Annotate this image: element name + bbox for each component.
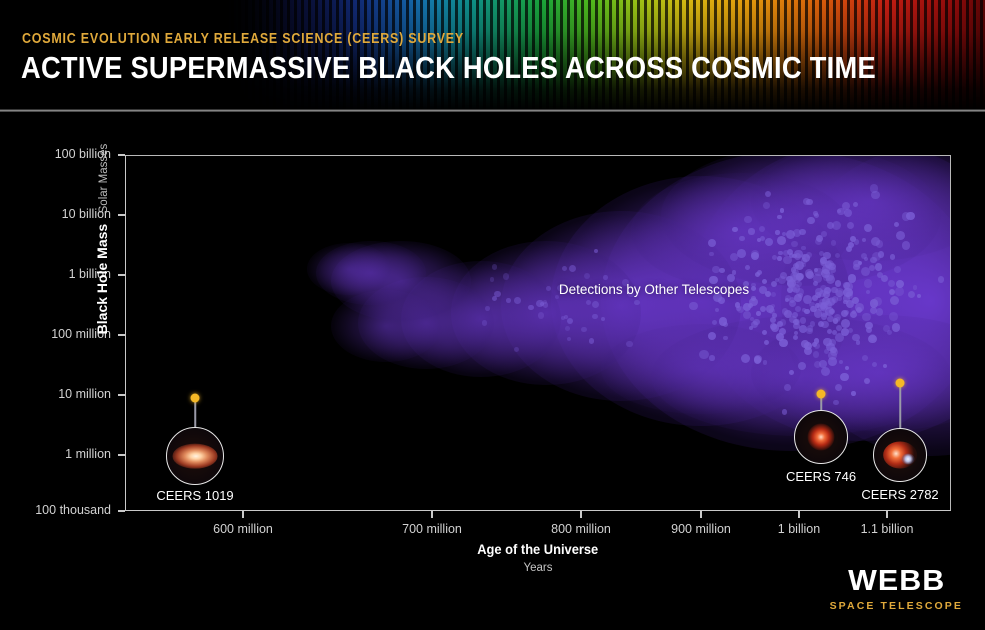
data-point-marker[interactable]	[191, 394, 200, 403]
detection-dot	[777, 236, 786, 245]
detection-dot	[917, 294, 921, 298]
webb-logo: WEBB SPACE TELESCOPE	[830, 567, 963, 612]
galaxy-thumbnail[interactable]	[873, 428, 927, 482]
detection-dot	[543, 300, 547, 304]
detection-dot	[709, 355, 714, 360]
detection-dot	[787, 249, 793, 255]
detection-dot	[795, 261, 804, 270]
detection-dot	[813, 211, 817, 215]
detection-dot	[792, 284, 800, 292]
detection-dot	[835, 384, 842, 391]
detection-dot	[828, 351, 837, 360]
detection-dot	[804, 309, 809, 314]
data-point-marker[interactable]	[817, 390, 826, 399]
detection-dot	[890, 296, 899, 305]
detection-dot	[760, 306, 766, 312]
galaxy-thumbnail[interactable]	[166, 427, 224, 485]
detection-dot	[782, 232, 786, 236]
detection-dot	[812, 295, 818, 301]
detection-dot	[753, 319, 760, 326]
detection-dot	[825, 272, 834, 281]
detection-dot	[754, 356, 761, 363]
detection-dot	[843, 300, 848, 305]
detection-dot	[790, 272, 799, 281]
detection-dot	[749, 326, 753, 330]
detection-dot	[786, 276, 793, 283]
detection-dot	[883, 325, 890, 332]
detection-dot	[856, 307, 863, 314]
detection-dot	[896, 280, 904, 288]
detection-dot	[798, 293, 803, 298]
detection-dot	[715, 308, 719, 312]
detection-dot	[823, 338, 832, 347]
detection-dot	[777, 215, 782, 220]
x-tick-label: 900 million	[671, 522, 731, 536]
detection-dot	[799, 229, 805, 235]
detection-dot	[789, 253, 794, 258]
detection-dot	[712, 266, 719, 273]
detection-dot	[836, 290, 843, 297]
detection-dot	[772, 313, 777, 318]
detection-dot	[818, 321, 824, 327]
callout-stem	[899, 383, 901, 428]
detection-dot	[803, 295, 812, 304]
detection-dot	[855, 303, 864, 312]
data-point-marker[interactable]	[896, 379, 905, 388]
detection-dot	[784, 384, 791, 391]
detection-dot	[841, 319, 850, 328]
detection-dot	[828, 357, 837, 366]
detection-dot	[851, 391, 855, 395]
x-axis-title-main: Age of the Universe	[478, 541, 599, 557]
detection-dot	[634, 300, 639, 305]
detection-dot	[482, 320, 488, 326]
detection-dot	[816, 235, 823, 242]
detection-dot	[759, 286, 767, 294]
detection-dot	[865, 322, 872, 329]
detection-dot	[586, 300, 591, 305]
detection-dot	[810, 321, 815, 326]
detection-dot	[782, 308, 789, 315]
detection-dot	[789, 297, 795, 303]
detection-dot	[732, 227, 737, 232]
detection-dot	[699, 350, 708, 359]
detection-dot	[802, 308, 806, 312]
y-tick	[118, 214, 125, 216]
detection-dot	[869, 265, 875, 271]
detection-dot	[834, 314, 841, 321]
detection-dot	[492, 264, 498, 270]
detection-dot	[748, 303, 753, 308]
detection-dot	[815, 303, 820, 308]
detection-dot	[565, 326, 570, 331]
detection-dot	[787, 287, 793, 293]
detection-dot	[782, 409, 788, 415]
cloud-blob	[661, 155, 941, 286]
detection-dot	[751, 286, 756, 291]
detection-dot	[771, 292, 776, 297]
detection-dot	[864, 224, 872, 232]
detection-dot	[581, 327, 587, 333]
detection-dot	[817, 294, 821, 298]
y-tick	[118, 510, 125, 512]
detection-dot	[938, 276, 945, 283]
galaxy-core	[808, 424, 835, 451]
detection-dot	[783, 250, 789, 256]
detection-dot	[836, 325, 842, 331]
detection-dot	[490, 277, 494, 281]
detection-dot	[809, 302, 815, 308]
detection-dot	[843, 288, 852, 297]
detection-dot	[775, 278, 779, 282]
detection-dot	[815, 292, 821, 298]
detection-dot	[824, 287, 831, 294]
detection-dot	[814, 361, 821, 368]
detection-dot	[878, 251, 884, 257]
detection-dot	[584, 273, 590, 279]
x-tick-label: 700 million	[402, 522, 462, 536]
webb-subtitle: SPACE TELESCOPE	[830, 600, 963, 612]
detection-dot	[806, 252, 812, 258]
detection-dot	[792, 269, 799, 276]
detection-dot	[546, 286, 551, 291]
y-tick	[118, 454, 125, 456]
detection-dot	[819, 360, 827, 368]
detection-dot	[825, 260, 834, 269]
detection-dot	[895, 287, 904, 296]
detection-dot	[794, 294, 802, 302]
detection-dot	[853, 260, 861, 268]
detection-dot	[827, 316, 833, 322]
detection-dot	[789, 370, 794, 375]
detection-dot	[837, 296, 841, 300]
header-divider	[0, 109, 985, 112]
detection-dot	[819, 290, 826, 297]
x-tick	[886, 511, 888, 518]
detection-dot	[793, 319, 799, 325]
y-axis-title-main: Black Hole Mass	[94, 224, 110, 335]
detection-dot	[866, 327, 872, 333]
detection-dot	[814, 268, 822, 276]
detection-dot	[814, 213, 819, 218]
cloud-blob	[401, 261, 561, 377]
detection-dot	[843, 295, 849, 301]
detection-dot	[794, 250, 802, 258]
detection-dot	[689, 302, 698, 311]
detection-dot	[793, 323, 800, 330]
detection-dot	[712, 320, 718, 326]
detection-dot	[830, 347, 836, 353]
detection-dot	[848, 328, 853, 333]
detection-dot	[780, 208, 785, 213]
detection-dot	[820, 303, 827, 310]
detection-dot	[872, 362, 877, 367]
detection-dot	[719, 317, 728, 326]
detection-dot	[787, 279, 796, 288]
cloud-blob	[751, 155, 951, 261]
detection-dot	[836, 317, 841, 322]
detection-dot	[754, 355, 762, 363]
detection-dot	[825, 307, 833, 315]
detection-dot	[766, 305, 774, 313]
detection-dot	[844, 209, 852, 217]
detection-dot	[870, 307, 877, 314]
detection-dot	[806, 199, 813, 206]
detection-dot	[708, 332, 716, 340]
page-title: ACTIVE SUPERMASSIVE BLACK HOLES ACROSS C…	[21, 50, 876, 86]
detection-dot	[824, 301, 831, 308]
detection-dot	[835, 333, 844, 342]
cloud-blob	[501, 211, 741, 401]
detection-dot	[825, 261, 832, 268]
detection-dot	[708, 239, 716, 247]
detection-dot	[827, 222, 834, 229]
detection-dot	[777, 256, 782, 261]
detection-dot	[506, 298, 511, 303]
detection-dot	[820, 257, 827, 264]
detection-dot	[807, 325, 813, 331]
detection-dot	[871, 237, 880, 246]
detection-dot	[819, 299, 825, 305]
detection-dot	[835, 253, 840, 258]
detection-dot	[756, 311, 761, 316]
detection-dot	[751, 296, 756, 301]
x-tick-label: 800 million	[551, 522, 611, 536]
detection-dot	[785, 298, 789, 302]
detection-dot	[771, 281, 777, 287]
detection-dot	[805, 269, 814, 278]
detection-dot	[801, 246, 806, 251]
detection-dot	[821, 321, 828, 328]
detection-dot	[840, 373, 849, 382]
detection-dot	[737, 306, 744, 313]
detection-dot	[751, 283, 756, 288]
detection-dot	[800, 317, 806, 323]
galaxy-core	[173, 444, 218, 469]
detection-dot	[887, 330, 892, 335]
detection-dot	[821, 231, 827, 237]
detection-dot	[826, 275, 835, 284]
detection-dot	[796, 273, 803, 280]
detection-dot	[743, 311, 751, 319]
detection-dot	[718, 297, 725, 304]
detection-dot	[870, 299, 878, 307]
detection-dot	[866, 290, 871, 295]
detection-dot	[770, 323, 777, 330]
detection-dot	[872, 252, 881, 261]
detection-dot	[823, 291, 830, 298]
detection-dot	[807, 217, 814, 224]
detection-dot	[494, 291, 501, 298]
cloud-blob	[331, 290, 441, 362]
detection-dot	[783, 256, 792, 265]
detection-dot	[736, 306, 741, 311]
cloud-blob	[331, 241, 471, 321]
detection-dot	[741, 354, 750, 363]
detection-dot	[828, 297, 836, 305]
detection-dot	[856, 340, 860, 344]
detection-dot	[862, 238, 866, 242]
detection-dot	[883, 364, 887, 368]
detection-dot	[845, 366, 850, 371]
detection-dot	[835, 280, 841, 286]
detection-dot	[777, 321, 783, 327]
x-tick	[580, 511, 582, 518]
detection-dot	[837, 209, 841, 213]
detection-dot	[776, 333, 784, 341]
detection-dot	[876, 308, 884, 316]
x-tick	[700, 511, 702, 518]
detection-dot	[785, 295, 791, 301]
detection-dot	[843, 282, 850, 289]
detection-dot	[822, 297, 830, 305]
detection-dot	[759, 226, 765, 232]
detection-dot	[894, 266, 901, 273]
y-axis-title-sub: Solar Masses	[98, 144, 110, 214]
detection-dot	[832, 330, 837, 335]
detection-dot	[772, 255, 777, 260]
detection-dot	[831, 240, 836, 245]
detection-dot	[823, 275, 829, 281]
cloud-blob	[781, 155, 951, 456]
detection-dot	[831, 287, 837, 293]
detection-dot	[514, 297, 521, 304]
detection-dot	[792, 254, 796, 258]
detection-dot	[862, 355, 868, 361]
detection-dot	[858, 261, 862, 265]
cloud-blob	[316, 241, 426, 305]
webb-wordmark: WEBB	[826, 567, 966, 596]
y-tick	[118, 394, 125, 396]
callout-label: CEERS 1019	[156, 488, 233, 503]
detection-dot	[850, 236, 856, 242]
detection-dot	[913, 285, 918, 290]
detection-dot	[592, 301, 599, 308]
detection-dot	[841, 328, 849, 336]
detection-dot	[829, 339, 835, 345]
x-tick	[431, 511, 433, 518]
detection-dot	[485, 306, 490, 311]
detection-dot	[820, 259, 827, 266]
detection-dot	[562, 266, 567, 271]
detection-dot	[769, 308, 774, 313]
detection-dot	[814, 309, 823, 318]
detection-dot	[780, 319, 787, 326]
detection-dot	[786, 230, 795, 239]
detection-dot	[835, 288, 844, 297]
detection-dot	[853, 202, 858, 207]
detection-dot	[503, 273, 509, 279]
detection-dot	[906, 212, 914, 220]
detection-dot	[737, 249, 746, 258]
detection-dot	[814, 343, 820, 349]
detection-cloud-label: Detections by Other Telescopes	[559, 282, 749, 297]
detection-dot	[826, 343, 834, 351]
detection-dot	[569, 265, 576, 272]
detection-dot	[814, 268, 818, 272]
y-tick	[118, 274, 125, 276]
detection-dot	[751, 252, 759, 260]
detection-dot	[538, 312, 545, 319]
detection-dot	[536, 300, 543, 307]
detection-dot	[820, 302, 828, 310]
detection-dot	[763, 202, 770, 209]
detection-dot	[739, 236, 744, 241]
detection-dot	[789, 316, 796, 323]
detection-dot	[902, 212, 910, 220]
detection-dot	[804, 347, 812, 355]
detection-dot	[743, 303, 751, 311]
detection-dot	[839, 360, 843, 364]
detection-dot	[794, 253, 801, 260]
detection-dot	[848, 274, 856, 282]
detection-dot	[844, 310, 849, 315]
detection-dot	[765, 191, 772, 198]
detection-dot	[889, 289, 895, 295]
cloud-blob	[601, 324, 801, 414]
detection-dot	[815, 238, 822, 245]
detection-dot	[846, 300, 854, 308]
detection-dot	[864, 378, 871, 385]
detection-dot	[842, 202, 850, 210]
detection-dot	[869, 334, 876, 341]
detection-dot	[844, 282, 853, 291]
detection-dot	[832, 221, 841, 230]
detection-dot	[870, 257, 876, 263]
detection-dot	[821, 311, 828, 318]
detection-dot	[861, 267, 870, 276]
detection-dot	[853, 264, 859, 270]
detection-dot	[723, 322, 729, 328]
callout-label: CEERS 2782	[861, 487, 938, 502]
detection-dot	[750, 317, 754, 321]
detection-dot	[850, 311, 857, 318]
galaxy-thumbnail[interactable]	[794, 410, 848, 464]
detection-dot	[802, 263, 806, 267]
detection-dot	[793, 229, 801, 237]
detection-dot	[791, 241, 797, 247]
detection-dot	[543, 302, 548, 307]
detection-dot	[846, 246, 852, 252]
detection-dot	[765, 238, 773, 246]
detection-dot	[528, 305, 533, 310]
detection-dot	[852, 297, 859, 304]
detection-dot	[827, 329, 832, 334]
detection-dot	[492, 296, 497, 301]
detection-dot	[854, 239, 859, 244]
detection-dot	[837, 208, 845, 216]
detection-dot	[814, 338, 819, 343]
detection-dot	[821, 313, 827, 319]
detection-dot	[806, 328, 812, 334]
detection-dot	[567, 337, 571, 341]
detection-dot	[819, 251, 824, 256]
detection-dot	[793, 263, 799, 269]
detection-dot	[833, 318, 839, 324]
detection-dot	[832, 296, 838, 302]
detection-dot	[813, 281, 818, 286]
detection-dot	[894, 222, 899, 227]
detection-dot	[778, 276, 786, 284]
detection-dot	[868, 335, 877, 344]
x-tick-label: 1 billion	[778, 522, 820, 536]
detection-dot	[762, 330, 768, 336]
detection-dot	[806, 271, 814, 279]
detection-dot	[892, 323, 900, 331]
detection-dot	[795, 319, 801, 325]
detection-dot	[787, 280, 794, 287]
detection-dot	[757, 270, 762, 275]
